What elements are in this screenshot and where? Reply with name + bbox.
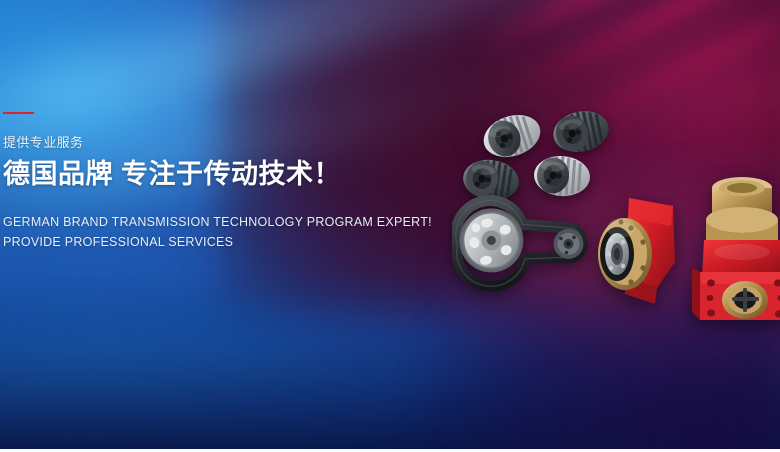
accent-rule bbox=[3, 112, 34, 114]
eyebrow-text: 提供专业服务 bbox=[3, 135, 433, 150]
background-bottom-navy-right bbox=[420, 222, 780, 452]
hero-banner: 提供专业服务 德国品牌 专注于传动技术！ GERMAN BRAND TRANSM… bbox=[0, 0, 780, 452]
subtitle-line-1: GERMAN BRAND TRANSMISSION TECHNOLOGY PRO… bbox=[3, 212, 433, 232]
subtitle-block: GERMAN BRAND TRANSMISSION TECHNOLOGY PRO… bbox=[3, 212, 433, 252]
subtitle-line-2: PROVIDE PROFESSIONAL SERVICES bbox=[3, 232, 433, 252]
banner-copy: 提供专业服务 德国品牌 专注于传动技术！ GERMAN BRAND TRANSM… bbox=[3, 112, 433, 252]
headline-text: 德国品牌 专注于传动技术！ bbox=[3, 159, 433, 190]
